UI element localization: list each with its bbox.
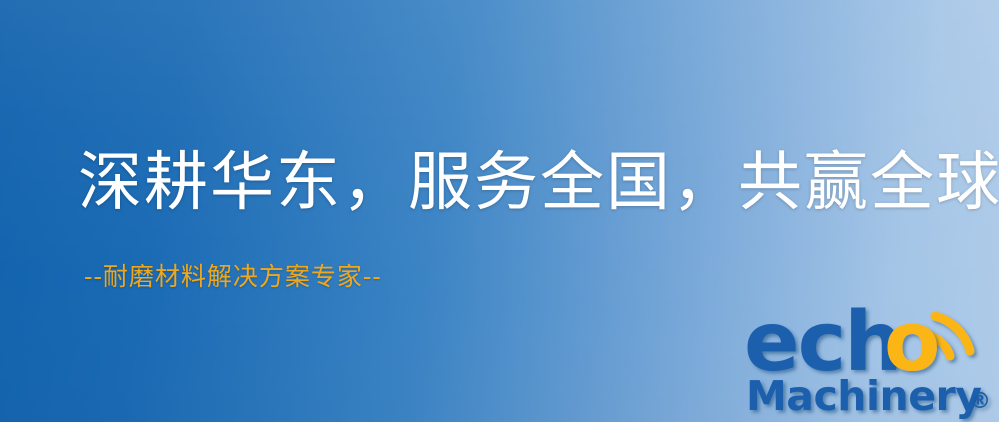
logo-tagline: Machinery [746, 372, 981, 420]
hero-banner: 深耕华东，服务全国，共赢全球 --耐磨材料解决方案专家-- ech o Mach… [0, 0, 999, 422]
registered-trademark-icon: ® [969, 389, 991, 414]
company-logo[interactable]: ech o Machinery ® [744, 292, 999, 422]
banner-headline: 深耕华东，服务全国，共赢全球 [78, 148, 999, 220]
banner-subtitle: --耐磨材料解决方案专家-- [84, 262, 382, 292]
